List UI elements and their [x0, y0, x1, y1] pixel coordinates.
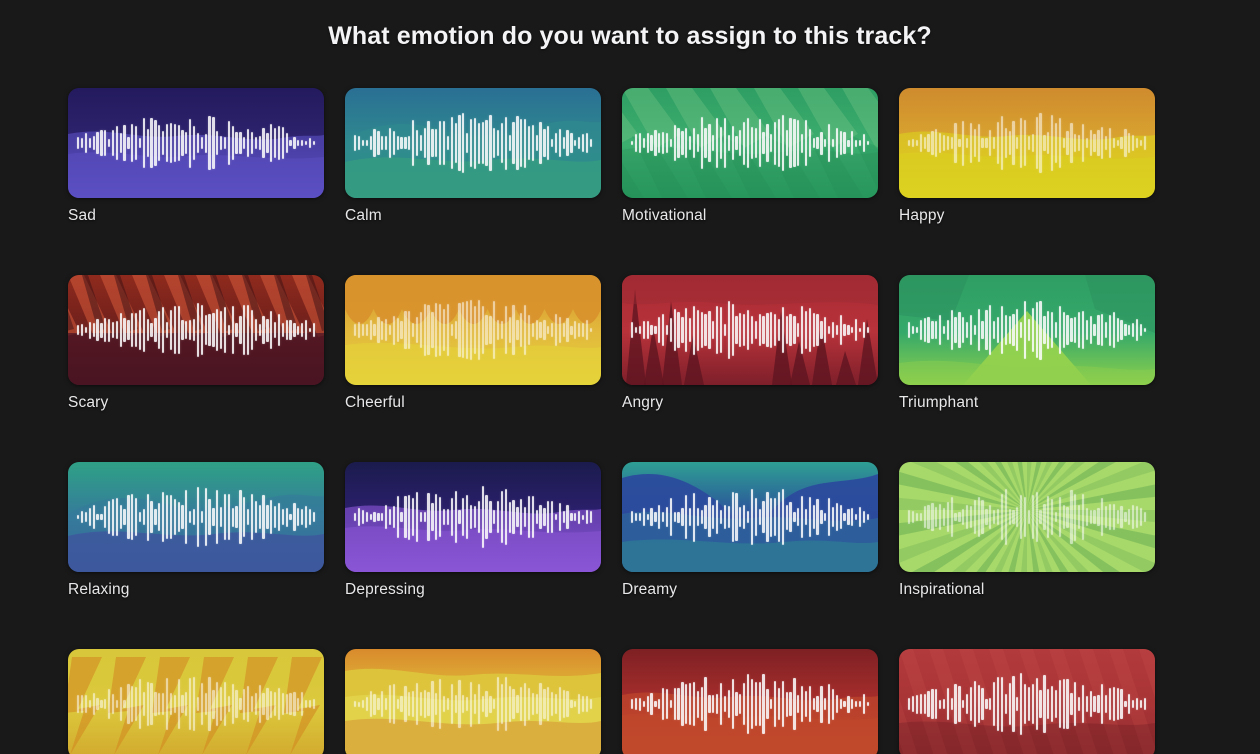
emotion-card-sad[interactable]	[68, 88, 324, 198]
emotion-cell-calm: Calm	[345, 88, 601, 225]
emotion-cell-triumphant: Triumphant	[899, 275, 1155, 412]
emotion-card-dreamy[interactable]	[622, 462, 878, 572]
emotion-artwork-gradient-soft-hill	[345, 88, 601, 198]
emotion-card-scary[interactable]	[68, 275, 324, 385]
emotion-artwork-gradient-vertical-wave	[622, 649, 878, 754]
emotion-cell-happy: Happy	[899, 88, 1155, 225]
emotion-card-label: Sad	[68, 207, 324, 225]
emotion-artwork-layered-bands	[345, 649, 601, 754]
emotion-grid: SadCalmMotivationalHappyScaryCheerfulAng…	[68, 88, 1160, 754]
emotion-cell-depressing: Depressing	[345, 462, 601, 599]
emotion-card-happy[interactable]	[899, 88, 1155, 198]
emotion-card-label: Happy	[899, 207, 1155, 225]
emotion-cell-sad: Sad	[68, 88, 324, 225]
emotion-artwork-scalloped-bumps	[345, 275, 601, 385]
emotion-card-energetic[interactable]	[68, 649, 324, 754]
emotion-artwork-gradient-vertical-wave	[899, 88, 1155, 198]
emotion-card-label: Inspirational	[899, 581, 1155, 599]
emotion-card-fearful[interactable]	[899, 649, 1155, 754]
emotion-artwork-gradient-soft-hill	[68, 462, 324, 572]
emotion-artwork-center-peak-triangle	[899, 275, 1155, 385]
emotion-cell-scary: Scary	[68, 275, 324, 412]
emotion-card-depressing[interactable]	[345, 462, 601, 572]
emotion-card-label: Triumphant	[899, 394, 1155, 412]
emotion-card-label: Motivational	[622, 207, 878, 225]
emotion-artwork-diagonal-claw-slashes	[68, 275, 324, 385]
emotion-card-relaxing[interactable]	[68, 462, 324, 572]
emotion-artwork-jagged-spikes	[622, 275, 878, 385]
emotion-card-motivational[interactable]	[622, 88, 878, 198]
emotion-card-joyful[interactable]	[345, 649, 601, 754]
emotion-card-label: Depressing	[345, 581, 601, 599]
emotion-card-label: Scary	[68, 394, 324, 412]
emotion-cell-relaxing: Relaxing	[68, 462, 324, 599]
emotion-artwork-flowing-blob	[622, 462, 878, 572]
emotion-card-label: Cheerful	[345, 394, 601, 412]
emotion-artwork-gradient-vertical-wave	[68, 88, 324, 198]
emotion-card-label: Dreamy	[622, 581, 878, 599]
emotion-cell-angry: Angry	[622, 275, 878, 412]
emotion-cell-cheerful: Cheerful	[345, 275, 601, 412]
emotion-cell-fearful: Fearful	[899, 649, 1155, 754]
emotion-artwork-subtle-diagonal-stripes	[899, 649, 1155, 754]
emotion-card-cheerful[interactable]	[345, 275, 601, 385]
emotion-card-triumphant[interactable]	[899, 275, 1155, 385]
emotion-card-calm[interactable]	[345, 88, 601, 198]
emotion-artwork-radial-sunburst	[899, 462, 1155, 572]
emotion-card-inspirational[interactable]	[899, 462, 1155, 572]
emotion-cell-dreamy: Dreamy	[622, 462, 878, 599]
emotion-card-label: Relaxing	[68, 581, 324, 599]
page-title: What emotion do you want to assign to th…	[0, 0, 1260, 58]
emotion-card-label: Angry	[622, 394, 878, 412]
emotion-cell-energetic: Energetic	[68, 649, 324, 754]
emotion-card-tense[interactable]	[622, 649, 878, 754]
emotion-card-label: Calm	[345, 207, 601, 225]
emotion-card-angry[interactable]	[622, 275, 878, 385]
emotion-artwork-diagonal-chevrons	[622, 88, 878, 198]
emotion-cell-motivational: Motivational	[622, 88, 878, 225]
emotion-picker-screen: What emotion do you want to assign to th…	[0, 0, 1260, 754]
emotion-cell-inspirational: Inspirational	[899, 462, 1155, 599]
emotion-cell-joyful: Joyful	[345, 649, 601, 754]
emotion-cell-tense: Tense	[622, 649, 878, 754]
emotion-artwork-zigzag-bolts	[68, 649, 324, 754]
emotion-artwork-gradient-vertical-wave	[345, 462, 601, 572]
